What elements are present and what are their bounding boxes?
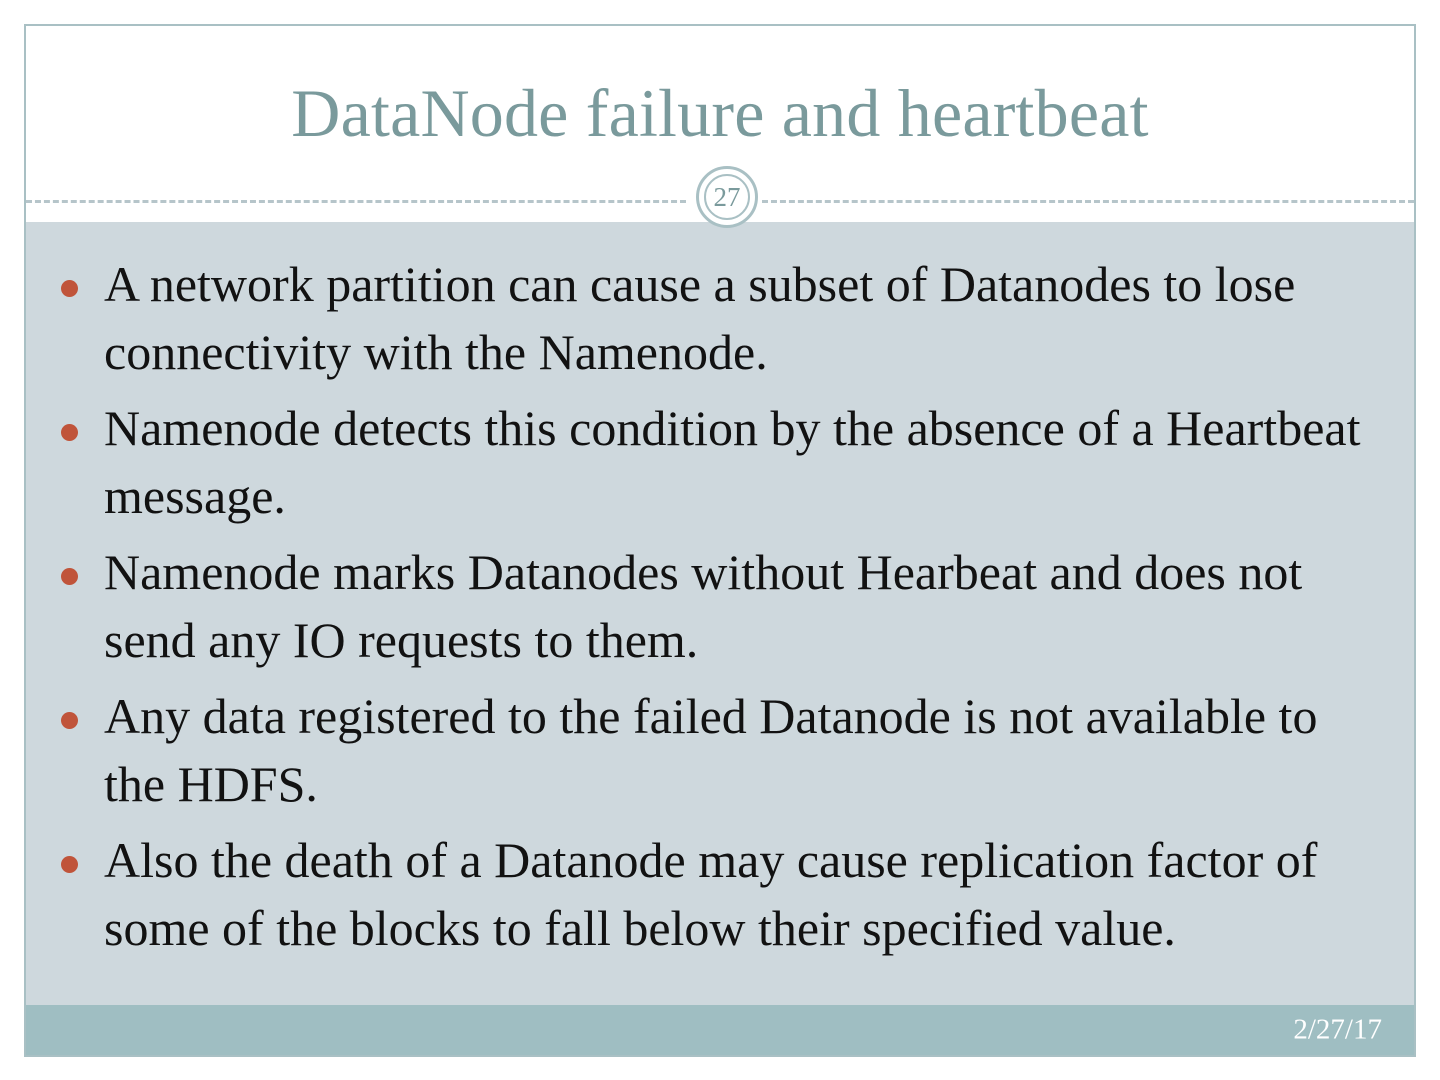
list-item: A network partition can cause a subset o…	[52, 250, 1382, 386]
bullet-dot-icon	[61, 856, 78, 873]
list-item: Any data registered to the failed Datano…	[52, 682, 1382, 818]
list-item-text: Namenode marks Datanodes without Hearbea…	[104, 538, 1382, 674]
bullet-dot-icon	[61, 568, 78, 585]
list-item-text: Any data registered to the failed Datano…	[104, 682, 1382, 818]
list-item: Namenode detects this condition by the a…	[52, 394, 1382, 530]
bullet-dot-icon	[61, 424, 78, 441]
header-divider-right	[762, 200, 1414, 203]
slide-footer-band: 2/27/17	[26, 1005, 1414, 1055]
list-item-text: Also the death of a Datanode may cause r…	[104, 826, 1382, 962]
slide-number-text: 27	[714, 184, 741, 211]
bullet-dot-icon	[61, 280, 78, 297]
slide-number-badge: 27	[696, 166, 758, 228]
list-item: Also the death of a Datanode may cause r…	[52, 826, 1382, 962]
presentation-slide: DataNode failure and heartbeat 27 A netw…	[0, 0, 1440, 1080]
list-item-text: Namenode detects this condition by the a…	[104, 394, 1382, 530]
page-title: DataNode failure and heartbeat	[291, 78, 1148, 149]
list-item: Namenode marks Datanodes without Hearbea…	[52, 538, 1382, 674]
list-item-text: A network partition can cause a subset o…	[104, 250, 1382, 386]
header-divider-left	[26, 200, 686, 203]
bullet-dot-icon	[61, 712, 78, 729]
footer-date-text: 2/27/17	[1293, 1016, 1382, 1045]
bullet-list: A network partition can cause a subset o…	[52, 250, 1382, 970]
